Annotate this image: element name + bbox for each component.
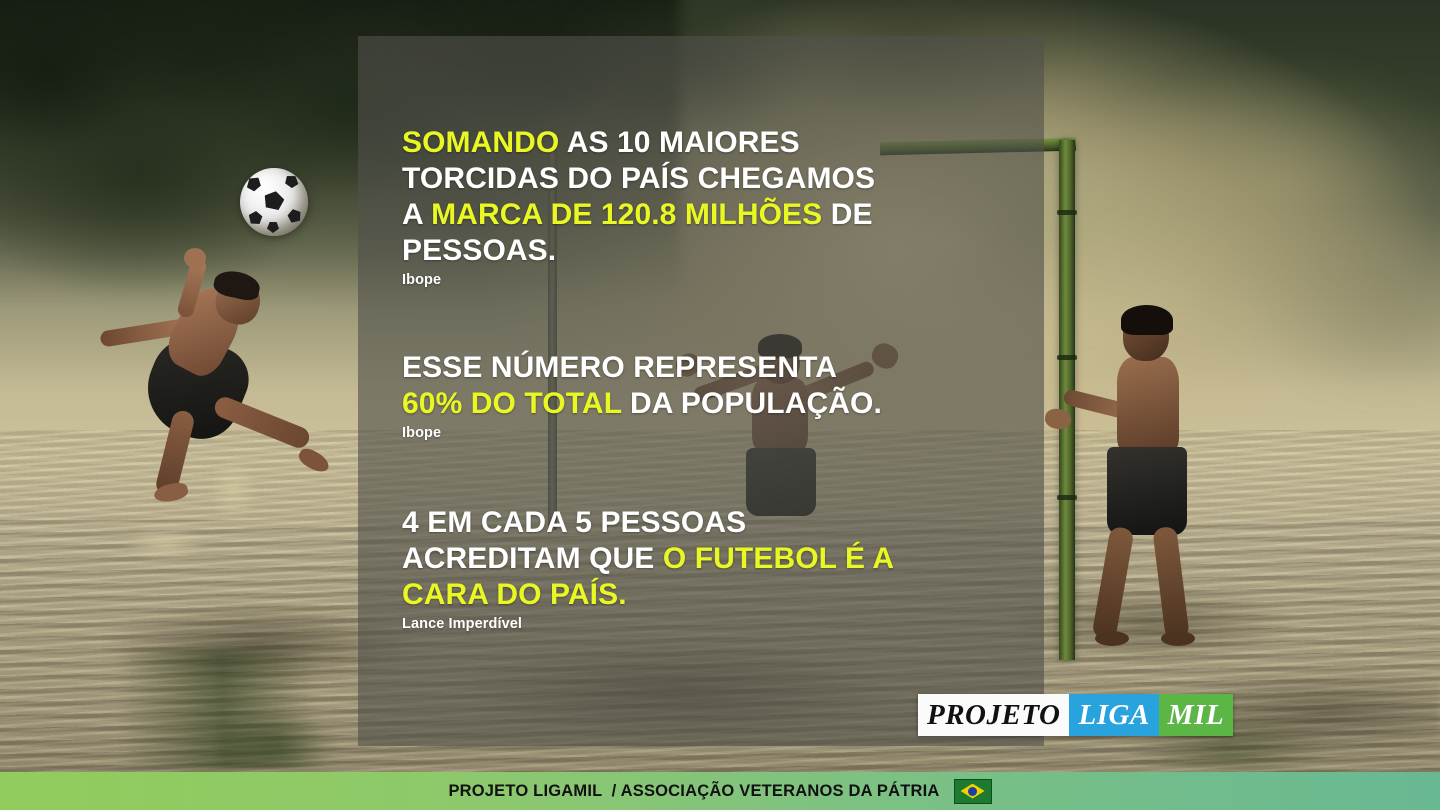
brazil-flag-icon xyxy=(954,779,992,804)
highlight-text: 60% DO TOTAL xyxy=(402,387,622,420)
stat-line: ESSE NÚMERO REPRESENTA xyxy=(402,350,982,386)
logo-part-mil: MIL xyxy=(1159,694,1233,736)
poster-canvas: SOMANDO AS 10 MAIORES TORCIDAS DO PAÍS C… xyxy=(0,0,1440,810)
stat-line: ACREDITAM QUE O FUTEBOL É A xyxy=(402,541,982,577)
plain-text: ACREDITAM QUE xyxy=(402,542,663,575)
plain-text: PESSOAS. xyxy=(402,234,556,267)
logo-part-projeto: PROJETO xyxy=(918,694,1069,736)
stat-block-cara-do-pais: 4 EM CADA 5 PESSOAS ACREDITAM QUE O FUTE… xyxy=(402,505,982,632)
highlight-text: SOMANDO xyxy=(402,126,559,159)
stat-line: PESSOAS. xyxy=(402,233,982,269)
logo-part-liga: LIGA xyxy=(1069,694,1158,736)
stat-line: 4 EM CADA 5 PESSOAS xyxy=(402,505,982,541)
highlight-text: MARCA DE 120.8 MILHÕES xyxy=(431,198,822,231)
stat-line: 60% DO TOTAL DA POPULAÇÃO. xyxy=(402,386,982,422)
projeto-ligamil-logo: PROJETO LIGA MIL xyxy=(918,694,1233,736)
stat-block-torcidas: SOMANDO AS 10 MAIORES TORCIDAS DO PAÍS C… xyxy=(402,125,982,288)
plain-text: ESSE NÚMERO REPRESENTA xyxy=(402,351,837,384)
plain-text: TORCIDAS DO PAÍS CHEGAMOS xyxy=(402,162,875,195)
footer-text: PROJETO LIGAMIL / ASSOCIAÇÃO VETERANOS D… xyxy=(448,782,939,801)
stat-source: Ibope xyxy=(402,425,982,441)
plain-text: DE xyxy=(822,198,872,231)
statistics-container: SOMANDO AS 10 MAIORES TORCIDAS DO PAÍS C… xyxy=(402,125,982,632)
highlight-text: CARA DO PAÍS. xyxy=(402,578,627,611)
grass-tuft-left xyxy=(120,650,380,770)
plain-text: 4 EM CADA 5 PESSOAS xyxy=(402,506,746,539)
spacer xyxy=(402,441,982,505)
footer-bar: PROJETO LIGAMIL / ASSOCIAÇÃO VETERANOS D… xyxy=(0,772,1440,810)
spacer xyxy=(402,288,982,350)
stat-line: SOMANDO AS 10 MAIORES xyxy=(402,125,982,161)
standing-boy-right xyxy=(1075,305,1255,685)
plain-text: DA POPULAÇÃO. xyxy=(622,387,882,420)
stat-line: A MARCA DE 120.8 MILHÕES DE xyxy=(402,197,982,233)
stat-source: Lance Imperdível xyxy=(402,616,982,632)
soccer-ball-icon xyxy=(240,168,308,236)
stat-line: CARA DO PAÍS. xyxy=(402,577,982,613)
plain-text: AS 10 MAIORES xyxy=(559,126,799,159)
diving-boy-left xyxy=(88,262,318,512)
stat-source: Ibope xyxy=(402,272,982,288)
plain-text: A xyxy=(402,198,431,231)
highlight-text: O FUTEBOL É A xyxy=(663,542,894,575)
stat-block-populacao: ESSE NÚMERO REPRESENTA 60% DO TOTAL DA P… xyxy=(402,350,982,441)
stat-line: TORCIDAS DO PAÍS CHEGAMOS xyxy=(402,161,982,197)
